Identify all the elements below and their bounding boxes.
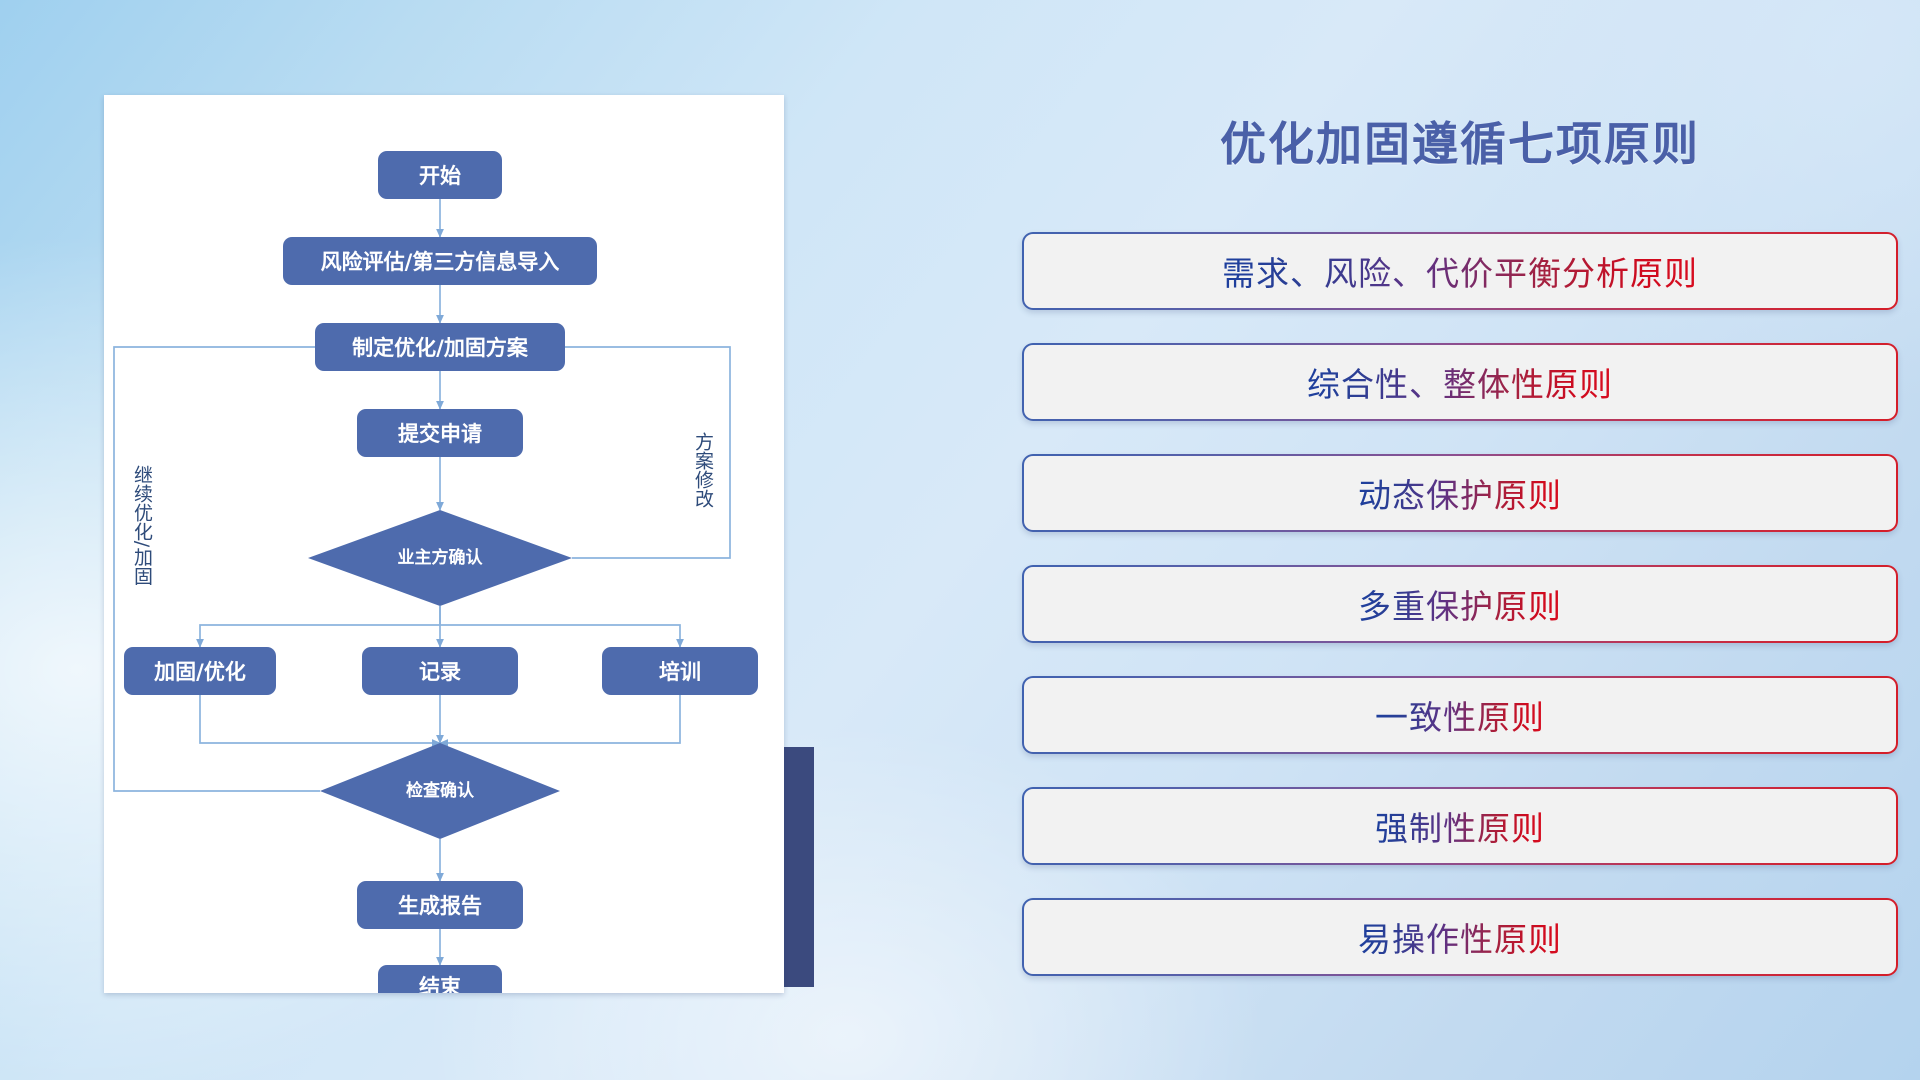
principles-card-list: 需求、风险、代价平衡分析原则 综合性、整体性原则 动态保护原则 多重保护原则 一…	[1022, 232, 1898, 1009]
flow-node-report[interactable]: 生成报告	[357, 881, 523, 929]
flow-node-record[interactable]: 记录	[362, 647, 518, 695]
flowchart-diagram: 开始 风险评估/第三方信息导入 制定优化/加固方案 提交申请 业主方确认	[104, 95, 784, 993]
flow-edge-label-right-loop: 方案修改	[692, 432, 714, 508]
flowchart-stage: 开始 风险评估/第三方信息导入 制定优化/加固方案 提交申请 业主方确认	[0, 0, 860, 1080]
flow-node-start[interactable]: 开始	[378, 151, 502, 199]
flow-node-risk-assessment-label: 风险评估/第三方信息导入	[321, 250, 560, 274]
flow-edge-label-left-loop: 继续优化/加固	[131, 465, 153, 586]
principle-card[interactable]: 强制性原则	[1022, 787, 1898, 865]
flow-node-check-confirm[interactable]: 检查确认	[320, 743, 560, 839]
principle-card-inner: 强制性原则	[1024, 789, 1896, 863]
flow-node-training[interactable]: 培训	[602, 647, 758, 695]
flow-node-report-label: 生成报告	[398, 894, 482, 918]
principle-card-inner: 易操作性原则	[1024, 900, 1896, 974]
flow-node-reinforce[interactable]: 加固/优化	[124, 647, 276, 695]
flow-node-check-confirm-label: 检查确认	[406, 780, 475, 801]
principle-card-label: 易操作性原则	[1358, 913, 1562, 961]
principle-card[interactable]: 需求、风险、代价平衡分析原则	[1022, 232, 1898, 310]
flow-node-plan[interactable]: 制定优化/加固方案	[315, 323, 565, 371]
flow-node-end[interactable]: 结束	[378, 965, 502, 993]
principle-card[interactable]: 综合性、整体性原则	[1022, 343, 1898, 421]
principle-card[interactable]: 动态保护原则	[1022, 454, 1898, 532]
flow-edge-label-right-loop-text: 方案修改	[692, 432, 714, 508]
principle-card-inner: 多重保护原则	[1024, 567, 1896, 641]
flow-node-record-label: 记录	[419, 660, 461, 684]
principles-stage: 优化加固遵循七项原则 需求、风险、代价平衡分析原则 综合性、整体性原则 动态保护…	[1000, 0, 1920, 1080]
principle-card-inner: 一致性原则	[1024, 678, 1896, 752]
flow-node-owner-confirm[interactable]: 业主方确认	[308, 510, 572, 606]
flow-node-owner-confirm-label: 业主方确认	[398, 547, 484, 568]
principle-card-inner: 综合性、整体性原则	[1024, 345, 1896, 419]
principles-title: 优化加固遵循七项原则	[1000, 108, 1920, 174]
principle-card-inner: 动态保护原则	[1024, 456, 1896, 530]
flow-node-end-label: 结束	[419, 975, 462, 993]
principle-card[interactable]: 一致性原则	[1022, 676, 1898, 754]
principle-card-inner: 需求、风险、代价平衡分析原则	[1024, 234, 1896, 308]
flow-node-risk-assessment[interactable]: 风险评估/第三方信息导入	[283, 237, 597, 285]
principle-card-label: 需求、风险、代价平衡分析原则	[1222, 247, 1698, 295]
principle-card-label: 强制性原则	[1375, 802, 1545, 850]
principle-card[interactable]: 易操作性原则	[1022, 898, 1898, 976]
principle-card-label: 动态保护原则	[1358, 469, 1562, 517]
flow-node-start-label: 开始	[419, 164, 461, 188]
flow-node-plan-label: 制定优化/加固方案	[352, 336, 529, 360]
flow-node-training-label: 培训	[659, 660, 701, 684]
flow-node-reinforce-label: 加固/优化	[153, 660, 246, 684]
principle-card-label: 综合性、整体性原则	[1307, 358, 1613, 406]
flowchart-panel: 开始 风险评估/第三方信息导入 制定优化/加固方案 提交申请 业主方确认	[104, 95, 784, 993]
principle-card-label: 一致性原则	[1375, 691, 1545, 739]
flow-node-submit[interactable]: 提交申请	[357, 409, 523, 457]
principle-card-label: 多重保护原则	[1358, 580, 1562, 628]
flow-node-submit-label: 提交申请	[398, 422, 482, 446]
flow-edge-label-left-loop-text: 继续优化/加固	[131, 465, 153, 586]
principle-card[interactable]: 多重保护原则	[1022, 565, 1898, 643]
